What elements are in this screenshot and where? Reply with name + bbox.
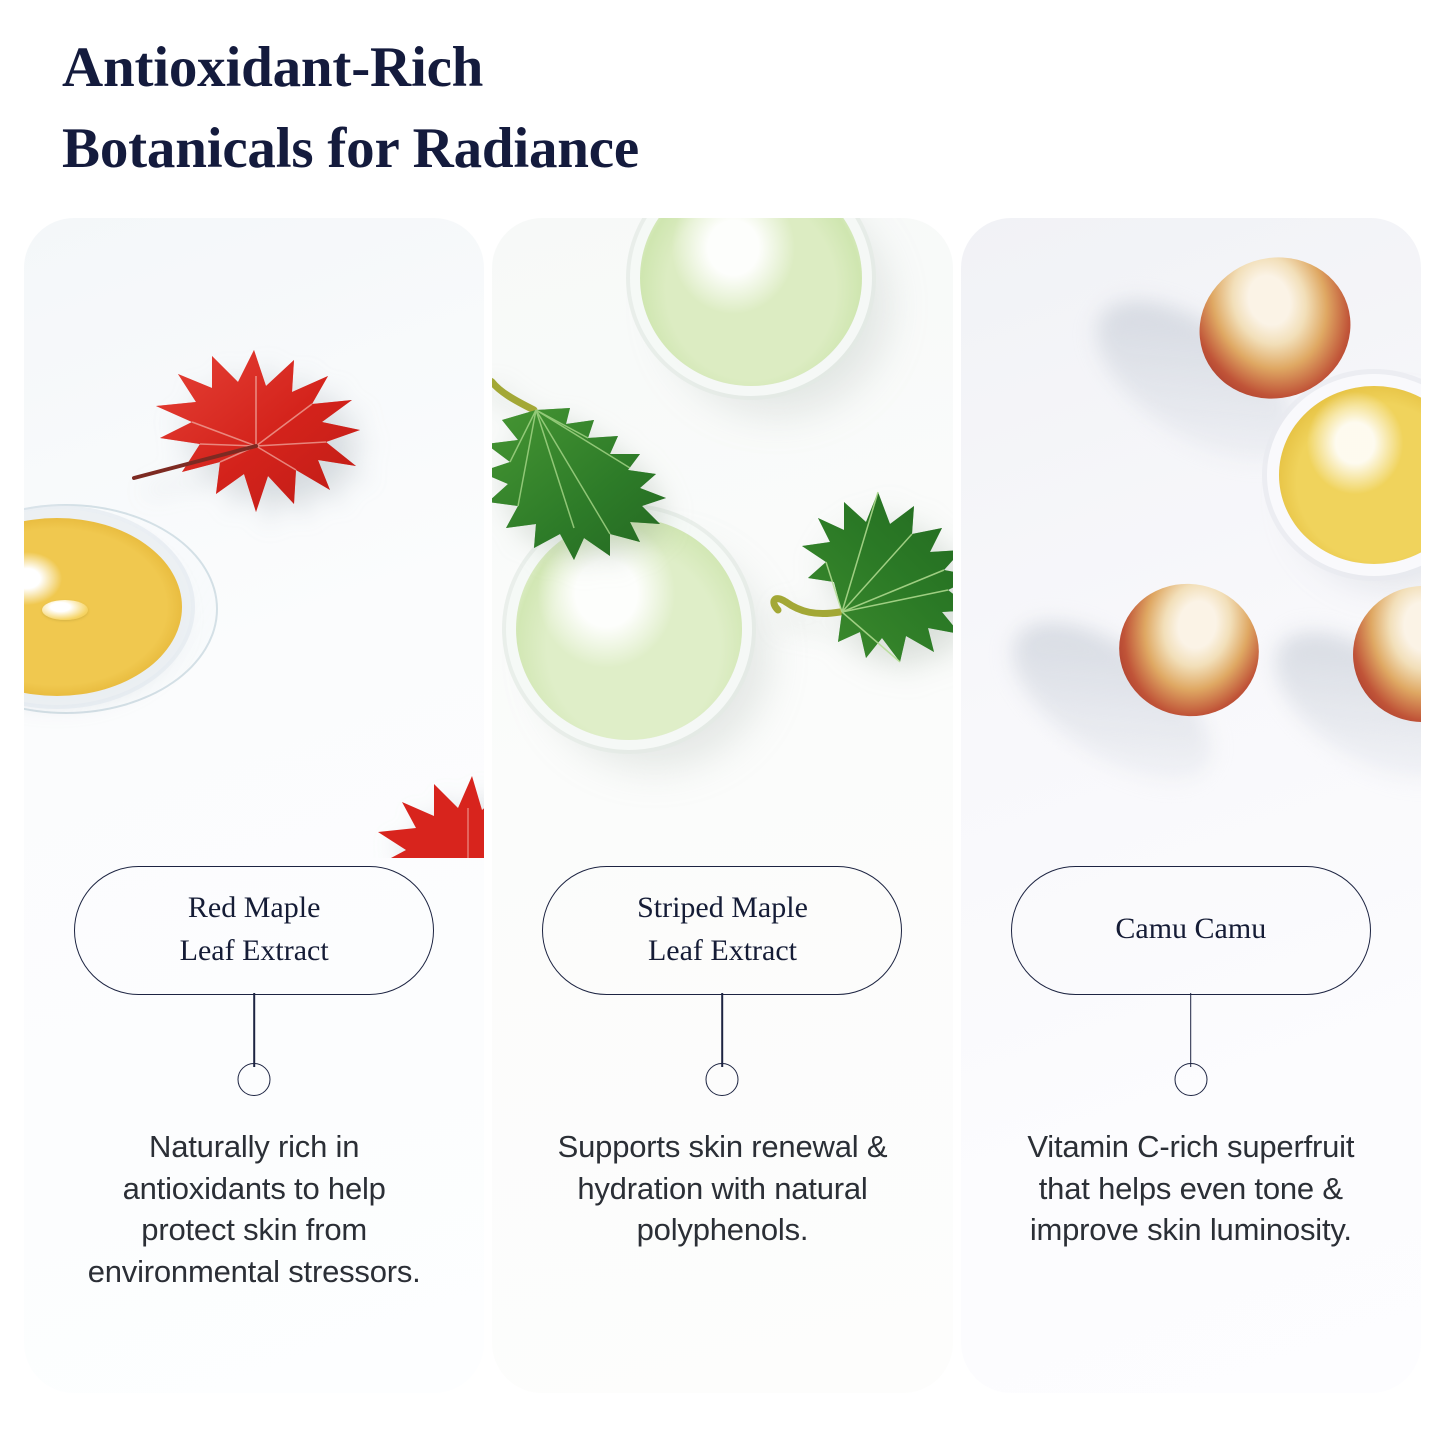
ingredient-label-camu-camu[interactable]: Camu Camu (1011, 866, 1371, 995)
ingredient-description-red-maple: Naturally rich in antioxidants to help p… (79, 1126, 429, 1292)
connector-line (1190, 993, 1192, 1067)
connector-line (722, 993, 724, 1067)
ingredient-description-camu-camu: Vitamin C-rich superfruit that helps eve… (1016, 1126, 1366, 1251)
red-maple-photo (24, 218, 484, 858)
connector-knob (238, 1063, 271, 1096)
ingredient-label-red-maple[interactable]: Red Maple Leaf Extract (74, 866, 434, 995)
green-maple-leaf-right-icon (764, 466, 952, 666)
green-maple-leaf-left-icon (492, 348, 700, 568)
camu-camu-photo (961, 218, 1421, 858)
ingredient-label-striped-maple[interactable]: Striped Maple Leaf Extract (542, 866, 902, 995)
ingredient-card-striped-maple[interactable]: Striped Maple Leaf Extract Supports skin… (492, 218, 952, 1393)
ingredient-card-camu-camu[interactable]: Camu Camu Vitamin C-rich superfruit that… (961, 218, 1421, 1393)
connector-knob (1174, 1063, 1207, 1096)
glass-bowl-oil (1279, 386, 1421, 564)
connector-knob (706, 1063, 739, 1096)
red-maple-leaf-icon (116, 326, 396, 526)
ingredient-card-red-maple[interactable]: Red Maple Leaf Extract Naturally rich in… (24, 218, 484, 1393)
striped-maple-photo (492, 218, 952, 858)
infographic-page: Antioxidant-Rich Botanicals for Radiance (0, 0, 1445, 1445)
ingredient-description-striped-maple: Supports skin renewal & hydration with n… (547, 1126, 897, 1251)
page-title: Antioxidant-Rich Botanicals for Radiance (62, 28, 962, 190)
ingredient-card-grid: Red Maple Leaf Extract Naturally rich in… (24, 218, 1421, 1393)
red-maple-leaf-small-icon (376, 770, 484, 858)
connector-line (253, 993, 255, 1067)
